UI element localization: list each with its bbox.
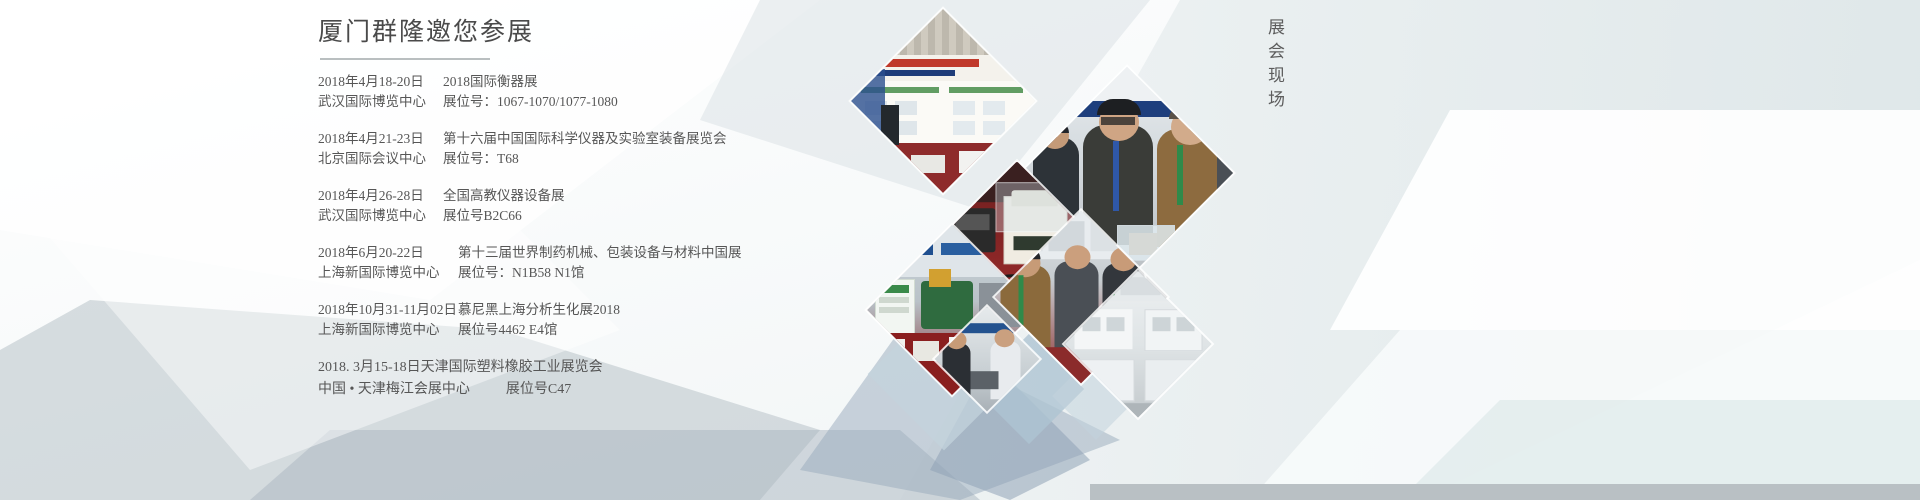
event-venue: 北京国际会议中心 xyxy=(318,149,443,169)
event-venue: 上海新国际博览中心 xyxy=(318,263,458,283)
event-date: 2018年6月20-22日 xyxy=(318,243,458,263)
event-booth: 展位号：N1B58 N1馆 xyxy=(458,263,584,283)
event-venue: 武汉国际博览中心 xyxy=(318,92,443,112)
event-name: 全国高教仪器设备展 xyxy=(443,186,565,206)
photo-booth-banner xyxy=(851,9,1035,193)
exhibition-invitation-banner: 厦门群隆邀您参展 2018年4月18-20日 2018国际衡器展 武汉国际博览中… xyxy=(0,0,1920,500)
event-name: 第十三届世界制药机械、包装设备与材料中国展 xyxy=(458,243,742,263)
event-name: 2018国际衡器展 xyxy=(443,72,538,92)
bottom-bar xyxy=(1090,484,1920,500)
event-name: 第十六届中国国际科学仪器及实验室装备展览会 xyxy=(443,129,727,149)
event-booth: 展位号：T68 xyxy=(443,149,519,169)
event-date: 2018年4月26-28日 xyxy=(318,186,443,206)
event-date: 2018年4月18-20日 xyxy=(318,72,443,92)
photo-collage xyxy=(830,0,1250,500)
event-booth: 展位号B2C66 xyxy=(443,206,522,226)
event-name: 2018. 3月15-18日天津国际塑料橡胶工业展览会 xyxy=(318,357,603,379)
event-venue: 上海新国际博览中心 xyxy=(318,320,458,340)
event-booth: 展位号C47 xyxy=(506,379,571,401)
title-underline xyxy=(320,58,490,60)
event-booth: 展位号4462 E4馆 xyxy=(458,320,557,340)
event-name: 慕尼黑上海分析生化展2018 xyxy=(458,300,620,320)
event-venue: 中国 • 天津梅江会展中心 xyxy=(318,379,470,401)
event-venue: 武汉国际博览中心 xyxy=(318,206,443,226)
event-date: 2018年4月21-23日 xyxy=(318,129,443,149)
event-booth: 展位号：1067-1070/1077-1080 xyxy=(443,92,618,112)
vertical-caption: 展会现场 xyxy=(1262,18,1287,114)
event-date: 2018年10月31-11月02日 xyxy=(318,300,458,320)
